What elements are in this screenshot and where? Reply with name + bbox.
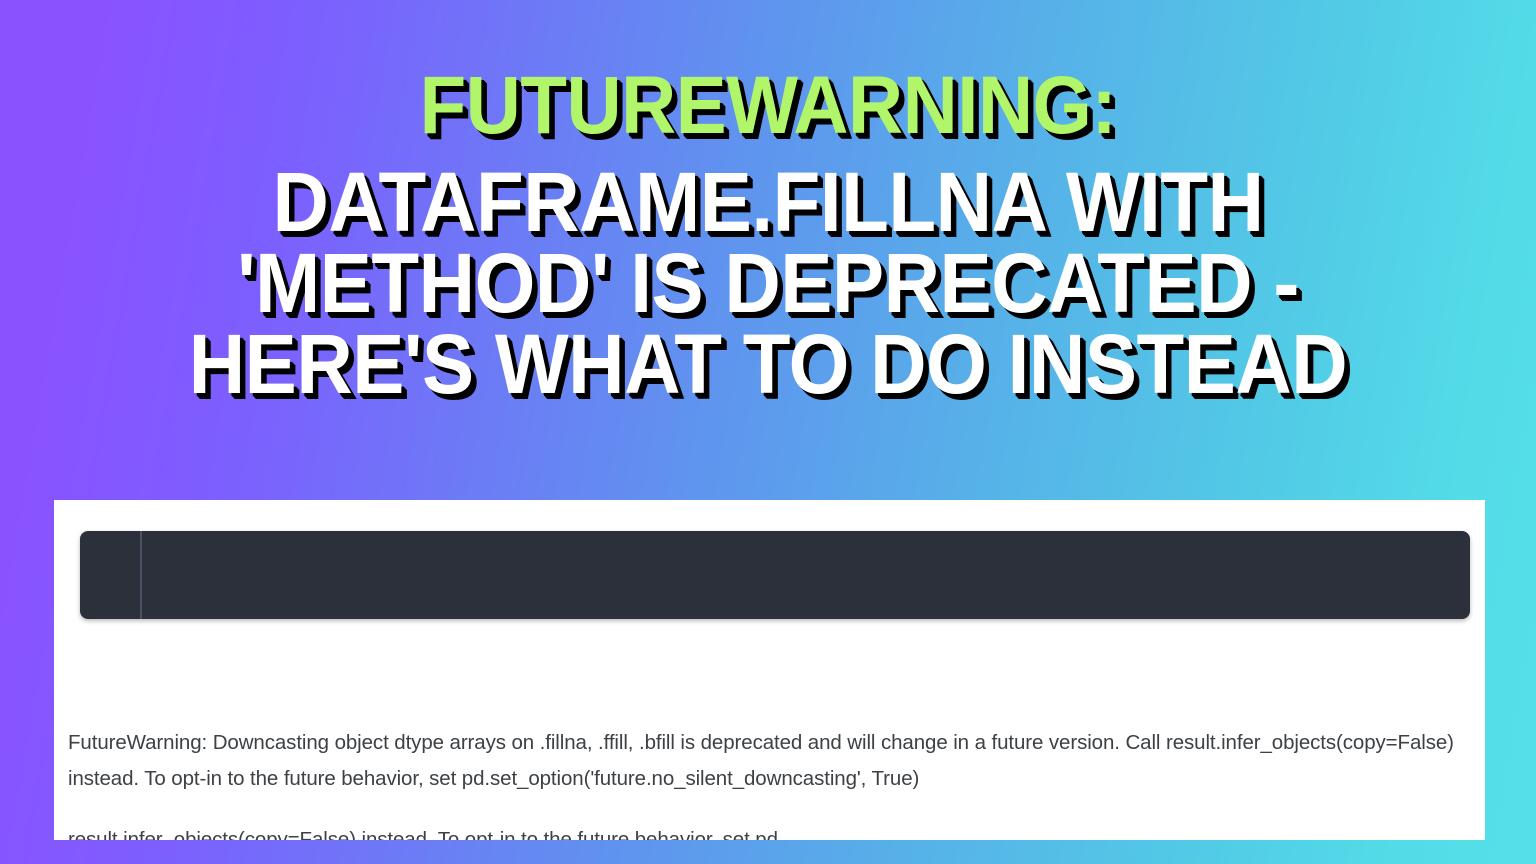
headline-line-2: 'METHOD' IS DEPRECATED - <box>54 243 1482 324</box>
code-line: ser1 = pd.Series([False, True, float("na… <box>158 531 810 541</box>
code-block[interactable]: 1 2 ser1 = pd.Series([False, True, float… <box>80 531 1470 619</box>
slide-canvas: FUTUREWARNING: DATAFRAME.FILLNA WITH 'ME… <box>0 0 1536 864</box>
code-line: ser1 = ser1.fillna(False) <box>158 609 810 619</box>
code-block-inner: 1 2 ser1 = pd.Series([False, True, float… <box>80 531 810 619</box>
headline-group: FUTUREWARNING: DATAFRAME.FILLNA WITH 'ME… <box>0 66 1536 406</box>
content-card: 1 2 ser1 = pd.Series([False, True, float… <box>54 500 1485 840</box>
future-warning-message-clipped: result.infer_objects(copy=False) instead… <box>68 822 1468 840</box>
code-lines[interactable]: ser1 = pd.Series([False, True, float("na… <box>142 531 810 619</box>
headline-line-3: HERE'S WHAT TO DO INSTEAD <box>54 324 1482 405</box>
future-warning-message: FutureWarning: Downcasting object dtype … <box>68 725 1468 797</box>
headline-line-1: DATAFRAME.FILLNA WITH <box>54 162 1482 243</box>
code-line-number-gutter: 1 2 <box>90 531 142 619</box>
headline-accent-line: FUTUREWARNING: <box>54 66 1482 146</box>
